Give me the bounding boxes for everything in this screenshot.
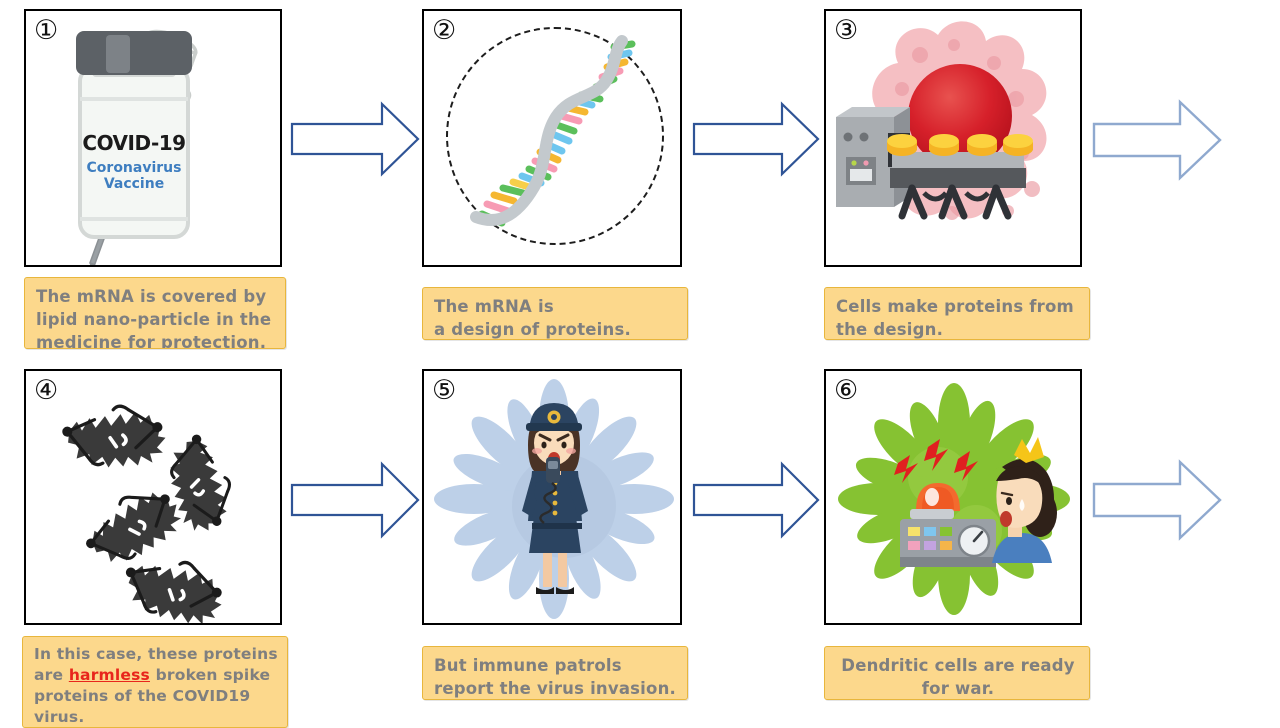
caption-line: The mRNA is [434,295,678,318]
mrna-illustration [424,11,680,265]
right-arrow-icon [1092,98,1222,182]
right-arrow-icon [1092,458,1222,542]
arrow-2-to-3 [692,100,820,178]
caption-line: Dendritic cells are ready [836,654,1080,677]
spike-fragments-icon [26,371,282,625]
panel-3-cell-factory[interactable]: ③ [824,9,1082,267]
vial-cap-highlight [106,35,130,73]
panel-1-vaccine-vial[interactable]: ① [24,9,282,267]
vial-bottom-stripe [80,217,188,221]
broken-spike-proteins-illustration [26,371,280,623]
harmless-highlight: harmless [69,666,150,684]
caption-line: Cells make proteins from [836,295,1080,318]
panel-6-number: ⑥ [834,377,858,404]
panel-3-number: ③ [834,17,858,44]
caption-line: a design of proteins. [434,318,678,340]
caption-4: In this case, these proteins are harmles… [22,636,288,728]
right-arrow-icon [290,460,420,540]
caption-1: The mRNA is covered by lipid nano-partic… [24,277,286,349]
control-panel [900,519,996,567]
caption-2: The mRNA is a design of proteins. [422,287,688,340]
policewoman-on-dendritic-cell-icon [424,371,682,625]
vial-label-covid19: COVID-19 [72,131,196,155]
caption-line: proteins of the COVID19 [34,686,278,707]
arrow-6-to-next [1092,458,1222,542]
caption-line: report the virus invasion. [434,677,678,700]
vial-label-vaccine: Vaccine [72,176,196,192]
panel-4-number: ④ [34,377,58,404]
panel-1-number: ① [34,17,58,44]
vial-label: COVID-19 Coronavirus Vaccine [72,131,196,192]
arrow-5-to-6 [692,460,820,540]
vaccine-vial-illustration: COVID-19 Coronavirus Vaccine [26,11,280,265]
right-arrow-icon [290,100,420,178]
caption-3: Cells make proteins from the design. [824,287,1090,340]
panel-5-immune-patrol[interactable]: ⑤ [422,369,682,625]
arrow-1-to-2 [290,100,420,178]
caption-line: virus. [34,707,278,728]
dendritic-alarm-illustration [826,371,1080,623]
immune-patrol-illustration [424,371,680,623]
caption-line: medicine for protection. [36,331,276,349]
vial-top-stripe [80,97,188,101]
vial-label-coronavirus: Coronavirus [72,160,196,176]
caption-line: In this case, these proteins [34,644,278,665]
flowchart-canvas: ① [0,0,1280,720]
caption-line: for war. [836,677,1080,700]
cell-with-conveyor-icon [826,11,1082,267]
panel-4-broken-spike-proteins[interactable]: ④ [24,369,282,625]
caption-line: The mRNA is covered by [36,285,276,308]
mrna-strand-icon [424,11,682,267]
panel-2-mrna-strand[interactable]: ② [422,9,682,267]
caption-line: lipid nano-particle in the [36,308,276,331]
vial-cap [76,31,192,75]
green-dendritic-cell-alarm-icon [826,371,1082,625]
cell-factory-illustration [826,11,1080,265]
caption-6: Dendritic cells are ready for war. [824,646,1090,700]
right-arrow-icon [692,460,820,540]
arrow-4-to-5 [290,460,420,540]
panel-6-dendritic-alarm[interactable]: ⑥ [824,369,1082,625]
caption-5: But immune patrols report the virus inva… [422,646,688,700]
arrow-3-to-next [1092,98,1222,182]
panel-2-number: ② [432,17,456,44]
caption-line: are harmless broken spike [34,665,278,686]
caption-line: But immune patrols [434,654,678,677]
caption-line: the design. [836,318,1080,340]
panel-5-number: ⑤ [432,377,456,404]
right-arrow-icon [692,100,820,178]
